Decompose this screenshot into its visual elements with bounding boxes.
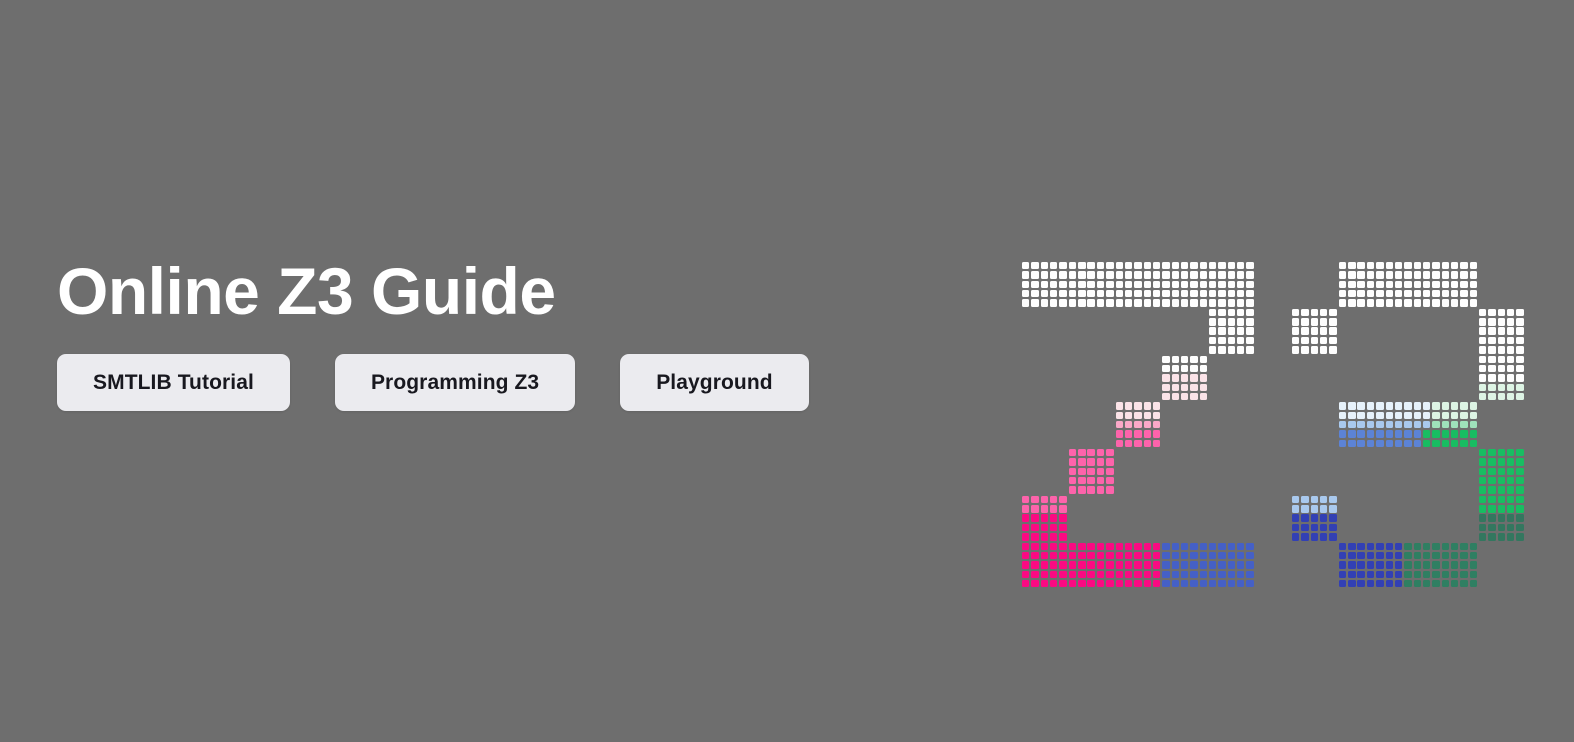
z-top-bar-cell	[1237, 281, 1244, 288]
z-diag-5-cell	[1022, 496, 1029, 503]
three-lower-right-b-cell	[1516, 514, 1523, 521]
three-top-bar-cell	[1357, 281, 1364, 288]
z-diag-1-cell	[1218, 309, 1225, 316]
three-bottom-green-cell	[1460, 543, 1467, 550]
z-bottom-blue-cell	[1200, 543, 1207, 550]
z-diag-3c-cell	[1116, 440, 1123, 447]
three-top-bar-cell	[1460, 271, 1467, 278]
z-top-bar-cell	[1246, 290, 1253, 297]
three-bottom-green-cell	[1423, 543, 1430, 550]
three-lower-left-stub-cell	[1329, 505, 1336, 512]
three-mid-green-cell	[1451, 440, 1458, 447]
three-bottom-blue-cell	[1348, 580, 1355, 587]
three-lower-left-b-cell	[1292, 524, 1299, 531]
z-diag-3b-cell	[1125, 421, 1132, 428]
z-bottom-blue-cell	[1200, 561, 1207, 568]
three-top-bar-cell	[1423, 271, 1430, 278]
three-mid-blue-pale-cell	[1404, 412, 1411, 419]
z-bottom-pink-cell	[1097, 543, 1104, 550]
three-lower-right-cell	[1507, 468, 1514, 475]
three-mid-green-cell	[1442, 430, 1449, 437]
z-top-bar-cell	[1069, 281, 1076, 288]
z-bottom-blue-cell	[1218, 571, 1225, 578]
programming-z3-button[interactable]: Programming Z3	[335, 354, 575, 411]
three-top-bar-cell	[1367, 262, 1374, 269]
z-top-bar-cell	[1134, 281, 1141, 288]
z-top-bar-cell	[1162, 262, 1169, 269]
three-top-left-stub-cell	[1292, 346, 1299, 353]
three-mid-blue-cell	[1386, 430, 1393, 437]
three-lower-right-b-cell	[1488, 514, 1495, 521]
z-bottom-pink-cell	[1134, 571, 1141, 578]
three-top-bar-cell	[1404, 299, 1411, 306]
three-mid-blue-pale-cell	[1414, 402, 1421, 409]
z-top-bar-cell	[1125, 299, 1132, 306]
z-bottom-blue-cell	[1162, 552, 1169, 559]
three-lower-left-b-cell	[1292, 533, 1299, 540]
z-bottom-blue-cell	[1200, 552, 1207, 559]
three-lower-right-cell	[1507, 449, 1514, 456]
glyph-z	[1022, 262, 1256, 589]
z-diag-2-cell	[1162, 365, 1169, 372]
three-top-left-stub-cell	[1292, 318, 1299, 325]
three-top-left-stub-cell	[1311, 346, 1318, 353]
z-diag-5-cell	[1022, 505, 1029, 512]
z-top-bar-cell	[1209, 290, 1216, 297]
z-bottom-pink-cell	[1069, 561, 1076, 568]
three-bottom-blue-cell	[1357, 571, 1364, 578]
smtlib-tutorial-button[interactable]: SMTLIB Tutorial	[57, 354, 290, 411]
z-bottom-blue-cell	[1181, 552, 1188, 559]
three-lower-right-cell	[1488, 496, 1495, 503]
three-bottom-green-cell	[1432, 561, 1439, 568]
three-mid-blue-cell	[1348, 440, 1355, 447]
three-top-bar-cell	[1442, 262, 1449, 269]
z-top-bar-cell	[1144, 271, 1151, 278]
z-diag-3c-cell	[1134, 430, 1141, 437]
three-top-left-stub-cell	[1320, 327, 1327, 334]
three-top-left-stub-cell	[1301, 318, 1308, 325]
z-top-bar-cell	[1172, 281, 1179, 288]
three-upper-right-cell	[1516, 346, 1523, 353]
three-mid-blue-lt-cell	[1376, 421, 1383, 428]
three-top-left-stub-cell	[1320, 346, 1327, 353]
three-bottom-blue-cell	[1395, 552, 1402, 559]
three-upper-right-cell	[1498, 356, 1505, 363]
z-diag-5b-cell	[1041, 533, 1048, 540]
three-upper-right-b-cell	[1507, 384, 1514, 391]
three-upper-right-cell	[1507, 318, 1514, 325]
three-mid-blue-cell	[1376, 430, 1383, 437]
three-mid-green-cell	[1423, 430, 1430, 437]
three-lower-right-cell	[1498, 449, 1505, 456]
three-upper-right-cell	[1507, 356, 1514, 363]
z-bottom-blue-cell	[1162, 543, 1169, 550]
z-diag-3-cell	[1144, 412, 1151, 419]
z-diag-5b-cell	[1031, 514, 1038, 521]
z-top-bar-cell	[1125, 271, 1132, 278]
three-upper-right-cell	[1488, 374, 1495, 381]
three-top-bar-cell	[1348, 281, 1355, 288]
z-bottom-pink-cell	[1116, 552, 1123, 559]
z-top-bar-cell	[1172, 290, 1179, 297]
z-bottom-pink-cell	[1087, 571, 1094, 578]
z-diag-3-cell	[1134, 402, 1141, 409]
z-bottom-pink-cell	[1022, 552, 1029, 559]
three-mid-blue-lt-cell	[1357, 421, 1364, 428]
three-lower-right-cell	[1498, 458, 1505, 465]
three-bottom-blue-cell	[1367, 580, 1374, 587]
three-mid-blue-pale-cell	[1386, 412, 1393, 419]
z-bottom-blue-cell	[1237, 561, 1244, 568]
z-diag-1-cell	[1209, 327, 1216, 334]
z-diag-4-cell	[1087, 449, 1094, 456]
z-bottom-blue-cell	[1172, 571, 1179, 578]
three-mid-green-lt-cell	[1442, 421, 1449, 428]
three-lower-right-cell	[1516, 477, 1523, 484]
three-lower-right-cell	[1488, 486, 1495, 493]
three-top-bar-cell	[1348, 290, 1355, 297]
z-bottom-pink-cell	[1087, 561, 1094, 568]
three-top-bar-cell	[1460, 281, 1467, 288]
three-mid-green-cell	[1432, 430, 1439, 437]
three-bottom-green-cell	[1414, 580, 1421, 587]
z-top-bar-cell	[1190, 262, 1197, 269]
three-top-left-stub-cell	[1320, 309, 1327, 316]
three-lower-right-b-cell	[1488, 533, 1495, 540]
z-diag-3b-cell	[1153, 421, 1160, 428]
z-top-bar-cell	[1134, 271, 1141, 278]
three-bottom-green-cell	[1460, 580, 1467, 587]
z-diag-4-cell	[1097, 486, 1104, 493]
three-top-bar-cell	[1423, 262, 1430, 269]
three-bottom-blue-cell	[1348, 561, 1355, 568]
three-top-left-stub-cell	[1329, 318, 1336, 325]
z-diag-5b-cell	[1059, 514, 1066, 521]
z-top-bar-cell	[1069, 299, 1076, 306]
z-diag-4-cell	[1078, 449, 1085, 456]
three-mid-green-cell	[1470, 440, 1477, 447]
z-top-bar-cell	[1069, 262, 1076, 269]
z-bottom-pink-cell	[1050, 561, 1057, 568]
z-top-bar-cell	[1144, 281, 1151, 288]
three-mid-green-pale-cell	[1442, 412, 1449, 419]
three-upper-right-cell	[1498, 346, 1505, 353]
three-lower-right-b-cell	[1488, 524, 1495, 531]
glyph-3	[1292, 262, 1526, 589]
three-lower-left-b-cell	[1301, 524, 1308, 531]
z-diag-3c-cell	[1125, 430, 1132, 437]
z-top-bar-cell	[1218, 271, 1225, 278]
three-mid-green-lt-cell	[1432, 421, 1439, 428]
three-bottom-green-cell	[1460, 571, 1467, 578]
z-top-bar-cell	[1228, 299, 1235, 306]
z-diag-4-cell	[1097, 468, 1104, 475]
three-mid-blue-lt-cell	[1404, 421, 1411, 428]
z-bottom-pink-cell	[1050, 571, 1057, 578]
three-top-bar-cell	[1357, 290, 1364, 297]
z-diag-5b-cell	[1050, 533, 1057, 540]
three-lower-left-stub-cell	[1311, 496, 1318, 503]
three-bottom-blue-cell	[1348, 571, 1355, 578]
z-diag-3-cell	[1116, 402, 1123, 409]
three-mid-green-cell	[1460, 430, 1467, 437]
three-top-bar-cell	[1470, 271, 1477, 278]
z-diag-1-cell	[1246, 346, 1253, 353]
three-bottom-blue-cell	[1395, 580, 1402, 587]
z-bottom-pink-cell	[1050, 580, 1057, 587]
playground-button[interactable]: Playground	[620, 354, 809, 411]
z-bottom-blue-cell	[1246, 543, 1253, 550]
three-mid-blue-cell	[1367, 430, 1374, 437]
z-bottom-pink-cell	[1106, 571, 1113, 578]
three-lower-right-b-cell	[1507, 533, 1514, 540]
three-mid-blue-cell	[1367, 440, 1374, 447]
z-top-bar-cell	[1041, 262, 1048, 269]
z-top-bar-cell	[1200, 299, 1207, 306]
z-top-bar-cell	[1116, 281, 1123, 288]
three-top-left-stub-cell	[1301, 327, 1308, 334]
z-top-bar-cell	[1162, 271, 1169, 278]
three-mid-green-lt-cell	[1470, 421, 1477, 428]
three-bottom-green-cell	[1470, 580, 1477, 587]
z-bottom-pink-cell	[1059, 580, 1066, 587]
hero-section: Online Z3 Guide SMTLIB Tutorial Programm…	[0, 0, 1574, 742]
three-bottom-blue-cell	[1367, 552, 1374, 559]
z-top-bar-cell	[1087, 290, 1094, 297]
three-lower-right-cell	[1479, 468, 1486, 475]
z-top-bar-cell	[1031, 290, 1038, 297]
three-top-bar-cell	[1386, 271, 1393, 278]
three-top-left-stub-cell	[1329, 337, 1336, 344]
z-diag-1-cell	[1228, 318, 1235, 325]
three-mid-green-cell	[1442, 440, 1449, 447]
z-bottom-pink-cell	[1087, 552, 1094, 559]
z-top-bar-cell	[1181, 281, 1188, 288]
z-top-bar-cell	[1022, 299, 1029, 306]
z-bottom-pink-cell	[1144, 543, 1151, 550]
three-lower-left-stub-cell	[1329, 496, 1336, 503]
z-diag-5b-cell	[1059, 524, 1066, 531]
z-diag-5b-cell	[1041, 514, 1048, 521]
three-bottom-green-cell	[1442, 580, 1449, 587]
z-diag-5-cell	[1050, 505, 1057, 512]
z-top-bar-cell	[1218, 299, 1225, 306]
z-top-bar-cell	[1190, 281, 1197, 288]
z-diag-2b-cell	[1190, 393, 1197, 400]
z-bottom-pink-cell	[1087, 580, 1094, 587]
three-lower-left-b-cell	[1329, 533, 1336, 540]
three-lower-right-cell	[1516, 458, 1523, 465]
z-bottom-blue-cell	[1237, 552, 1244, 559]
z-top-bar-cell	[1162, 299, 1169, 306]
z-diag-3-cell	[1153, 412, 1160, 419]
z-bottom-pink-cell	[1106, 580, 1113, 587]
z-diag-4-cell	[1087, 486, 1094, 493]
three-lower-right-cell	[1498, 468, 1505, 475]
z-diag-2-cell	[1162, 356, 1169, 363]
three-upper-right-cell	[1507, 365, 1514, 372]
three-bottom-green-cell	[1451, 552, 1458, 559]
z-bottom-pink-cell	[1041, 580, 1048, 587]
z-bottom-pink-cell	[1031, 580, 1038, 587]
three-top-bar-cell	[1367, 281, 1374, 288]
z-diag-2b-cell	[1162, 393, 1169, 400]
three-bottom-green-cell	[1470, 552, 1477, 559]
z-diag-5-cell	[1031, 505, 1038, 512]
z-diag-4-cell	[1069, 477, 1076, 484]
z-top-bar-cell	[1200, 262, 1207, 269]
three-upper-right-cell	[1516, 356, 1523, 363]
z-bottom-blue-cell	[1209, 580, 1216, 587]
z-diag-1-cell	[1228, 327, 1235, 334]
three-bottom-green-cell	[1442, 543, 1449, 550]
z-bottom-pink-cell	[1106, 543, 1113, 550]
z-diag-2b-cell	[1200, 393, 1207, 400]
z-bottom-pink-cell	[1078, 571, 1085, 578]
z-bottom-pink-cell	[1059, 552, 1066, 559]
z-diag-3-cell	[1116, 412, 1123, 419]
three-bottom-green-cell	[1470, 543, 1477, 550]
three-top-bar-cell	[1470, 290, 1477, 297]
z-top-bar-cell	[1116, 299, 1123, 306]
three-top-left-stub-cell	[1311, 318, 1318, 325]
z-diag-2b-cell	[1181, 393, 1188, 400]
three-mid-green-cell	[1451, 430, 1458, 437]
z-bottom-blue-cell	[1190, 571, 1197, 578]
three-lower-right-b-cell	[1479, 514, 1486, 521]
three-upper-right-cell	[1479, 374, 1486, 381]
three-top-bar-cell	[1376, 299, 1383, 306]
z-top-bar-cell	[1153, 290, 1160, 297]
z-top-bar-cell	[1050, 299, 1057, 306]
z-diag-1-cell	[1209, 346, 1216, 353]
z-bottom-blue-cell	[1162, 580, 1169, 587]
three-upper-right-cell	[1516, 374, 1523, 381]
z-top-bar-cell	[1181, 299, 1188, 306]
three-bottom-green-cell	[1451, 543, 1458, 550]
three-upper-right-cell	[1479, 327, 1486, 334]
three-bottom-green-cell	[1470, 561, 1477, 568]
three-top-bar-cell	[1357, 271, 1364, 278]
three-mid-green-pale-cell	[1460, 412, 1467, 419]
z-bottom-pink-cell	[1022, 580, 1029, 587]
three-bottom-blue-cell	[1376, 580, 1383, 587]
three-lower-right-b-cell	[1516, 533, 1523, 540]
three-mid-blue-lt-cell	[1423, 421, 1430, 428]
three-mid-green-cell	[1470, 430, 1477, 437]
three-mid-green-pale-cell	[1470, 402, 1477, 409]
z-bottom-pink-cell	[1125, 571, 1132, 578]
z-top-bar-cell	[1069, 290, 1076, 297]
three-top-bar-cell	[1442, 281, 1449, 288]
z-top-bar-cell	[1097, 281, 1104, 288]
z-bottom-pink-cell	[1134, 552, 1141, 559]
z-bottom-pink-cell	[1022, 571, 1029, 578]
three-upper-right-b-cell	[1498, 384, 1505, 391]
three-upper-right-cell	[1507, 337, 1514, 344]
three-mid-blue-lt-cell	[1414, 421, 1421, 428]
three-lower-left-stub-cell	[1301, 496, 1308, 503]
three-mid-blue-cell	[1414, 440, 1421, 447]
three-mid-blue-lt-cell	[1348, 421, 1355, 428]
z-top-bar-cell	[1172, 262, 1179, 269]
three-top-bar-cell	[1348, 271, 1355, 278]
z-top-bar-cell	[1078, 299, 1085, 306]
z-top-bar-cell	[1237, 271, 1244, 278]
three-mid-blue-pale-cell	[1404, 402, 1411, 409]
z-top-bar-cell	[1106, 262, 1113, 269]
z-diag-4-cell	[1087, 468, 1094, 475]
z-bottom-pink-cell	[1116, 571, 1123, 578]
three-lower-right-cell	[1498, 477, 1505, 484]
three-upper-right-b-cell	[1516, 384, 1523, 391]
z-top-bar-cell	[1181, 290, 1188, 297]
z-diag-3b-cell	[1134, 421, 1141, 428]
z-bottom-blue-cell	[1218, 580, 1225, 587]
three-bottom-green-cell	[1432, 571, 1439, 578]
z-diag-5b-cell	[1059, 533, 1066, 540]
z-diag-1-cell	[1218, 337, 1225, 344]
three-top-bar-cell	[1357, 262, 1364, 269]
z-top-bar-cell	[1106, 290, 1113, 297]
z-diag-4-cell	[1069, 468, 1076, 475]
three-upper-right-cell	[1507, 346, 1514, 353]
three-lower-right-cell	[1488, 458, 1495, 465]
z-top-bar-cell	[1246, 299, 1253, 306]
z-bottom-pink-cell	[1041, 571, 1048, 578]
z-bottom-pink-cell	[1069, 580, 1076, 587]
z-top-bar-cell	[1181, 262, 1188, 269]
three-bottom-blue-cell	[1357, 561, 1364, 568]
three-mid-blue-pale-cell	[1414, 412, 1421, 419]
three-mid-blue-cell	[1404, 440, 1411, 447]
z-top-bar-cell	[1087, 299, 1094, 306]
three-lower-right-b-cell	[1498, 524, 1505, 531]
three-mid-blue-pale-cell	[1395, 412, 1402, 419]
z-bottom-pink-cell	[1031, 571, 1038, 578]
three-top-bar-cell	[1470, 281, 1477, 288]
z-bottom-pink-cell	[1022, 561, 1029, 568]
z-bottom-blue-cell	[1190, 561, 1197, 568]
three-mid-blue-cell	[1357, 430, 1364, 437]
three-mid-blue-pale-cell	[1339, 412, 1346, 419]
z-top-bar-cell	[1106, 271, 1113, 278]
three-bottom-blue-cell	[1339, 580, 1346, 587]
z-top-bar-cell	[1097, 290, 1104, 297]
z-diag-2-cell	[1172, 365, 1179, 372]
three-bottom-green-cell	[1423, 580, 1430, 587]
z-bottom-blue-cell	[1172, 543, 1179, 550]
z-top-bar-cell	[1237, 290, 1244, 297]
three-lower-right-b-cell	[1516, 524, 1523, 531]
z-top-bar-cell	[1218, 262, 1225, 269]
three-bottom-blue-cell	[1357, 543, 1364, 550]
three-lower-right-b-cell	[1498, 533, 1505, 540]
three-lower-right-cell	[1479, 496, 1486, 503]
three-top-bar-cell	[1386, 290, 1393, 297]
three-bottom-blue-cell	[1339, 552, 1346, 559]
three-upper-right-cell	[1488, 327, 1495, 334]
z-bottom-pink-cell	[1106, 552, 1113, 559]
three-bottom-blue-cell	[1339, 543, 1346, 550]
three-top-bar-cell	[1460, 262, 1467, 269]
three-mid-blue-pale-cell	[1423, 412, 1430, 419]
z-bottom-blue-cell	[1190, 543, 1197, 550]
z-top-bar-cell	[1059, 299, 1066, 306]
z-diag-3-cell	[1134, 412, 1141, 419]
z-bottom-pink-cell	[1059, 571, 1066, 578]
